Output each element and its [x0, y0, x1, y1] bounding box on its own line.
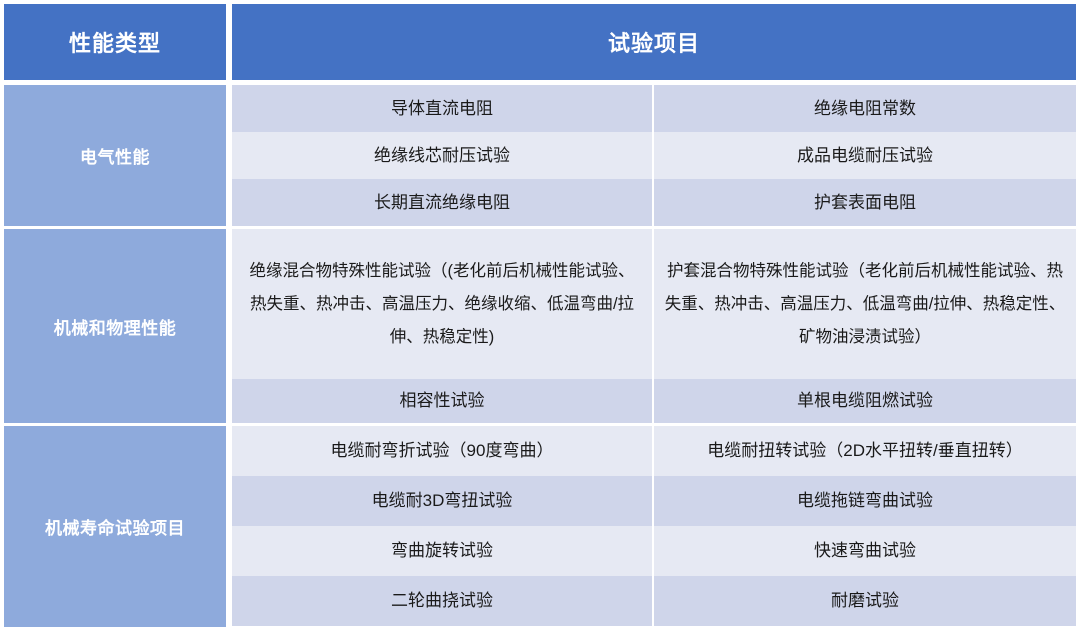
table-row: 长期直流绝缘电阻 护套表面电阻: [232, 179, 1076, 226]
table-row: 电缆耐弯折试验（90度弯曲） 电缆耐扭转试验（2D水平扭转/垂直扭转）: [232, 426, 1076, 476]
cell-test-item: 电缆拖链弯曲试验: [654, 476, 1076, 526]
cell-test-item: 电缆耐扭转试验（2D水平扭转/垂直扭转）: [654, 426, 1076, 476]
category-cell-electrical: 电气性能: [4, 85, 226, 226]
cell-test-item: 绝缘电阻常数: [654, 85, 1076, 132]
cell-test-item: 二轮曲挠试验: [232, 576, 654, 626]
rows-area-mechanical-life: 电缆耐弯折试验（90度弯曲） 电缆耐扭转试验（2D水平扭转/垂直扭转） 电缆耐3…: [232, 426, 1076, 626]
cell-test-item: 绝缘混合物特殊性能试验（(老化前后机械性能试验、热失重、热冲击、高温压力、绝缘收…: [232, 229, 654, 379]
rows-area-electrical: 导体直流电阻 绝缘电阻常数 绝缘线芯耐压试验 成品电缆耐压试验 长期直流绝缘电阻…: [232, 85, 1076, 226]
header-cell-test-items: 试验项目: [232, 4, 1076, 80]
table-row: 相容性试验 单根电缆阻燃试验: [232, 379, 1076, 423]
table-row: 电缆耐3D弯扭试验 电缆拖链弯曲试验: [232, 476, 1076, 526]
rows-area-mechanical-physical: 绝缘混合物特殊性能试验（(老化前后机械性能试验、热失重、热冲击、高温压力、绝缘收…: [232, 229, 1076, 423]
cell-test-item: 绝缘线芯耐压试验: [232, 132, 654, 179]
section-electrical: 电气性能 导体直流电阻 绝缘电阻常数 绝缘线芯耐压试验 成品电缆耐压试验 长期直…: [0, 82, 1080, 226]
table-header-row: 性能类型 试验项目: [0, 0, 1080, 82]
category-cell-mechanical-life: 机械寿命试验项目: [4, 426, 226, 627]
cell-test-item: 弯曲旋转试验: [232, 526, 654, 576]
cell-test-item: 相容性试验: [232, 379, 654, 423]
test-items-table: 性能类型 试验项目 电气性能 导体直流电阻 绝缘电阻常数 绝缘线芯耐压试验 成品…: [0, 0, 1080, 627]
cell-test-item: 快速弯曲试验: [654, 526, 1076, 576]
table-row: 绝缘线芯耐压试验 成品电缆耐压试验: [232, 132, 1076, 179]
table-row: 二轮曲挠试验 耐磨试验: [232, 576, 1076, 626]
cell-test-item: 长期直流绝缘电阻: [232, 179, 654, 226]
table-row: 导体直流电阻 绝缘电阻常数: [232, 85, 1076, 132]
section-mechanical-life: 机械寿命试验项目 电缆耐弯折试验（90度弯曲） 电缆耐扭转试验（2D水平扭转/垂…: [0, 423, 1080, 627]
cell-test-item: 电缆耐3D弯扭试验: [232, 476, 654, 526]
cell-test-item: 电缆耐弯折试验（90度弯曲）: [232, 426, 654, 476]
header-cell-performance-type: 性能类型: [4, 4, 226, 80]
section-mechanical-physical: 机械和物理性能 绝缘混合物特殊性能试验（(老化前后机械性能试验、热失重、热冲击、…: [0, 226, 1080, 423]
cell-test-item: 护套表面电阻: [654, 179, 1076, 226]
category-cell-mechanical-physical: 机械和物理性能: [4, 229, 226, 423]
cell-test-item: 护套混合物特殊性能试验（老化前后机械性能试验、热失重、热冲击、高温压力、低温弯曲…: [654, 229, 1076, 379]
cell-test-item: 单根电缆阻燃试验: [654, 379, 1076, 423]
cell-test-item: 耐磨试验: [654, 576, 1076, 626]
cell-test-item: 成品电缆耐压试验: [654, 132, 1076, 179]
table-row: 绝缘混合物特殊性能试验（(老化前后机械性能试验、热失重、热冲击、高温压力、绝缘收…: [232, 229, 1076, 379]
cell-test-item: 导体直流电阻: [232, 85, 654, 132]
table-row: 弯曲旋转试验 快速弯曲试验: [232, 526, 1076, 576]
